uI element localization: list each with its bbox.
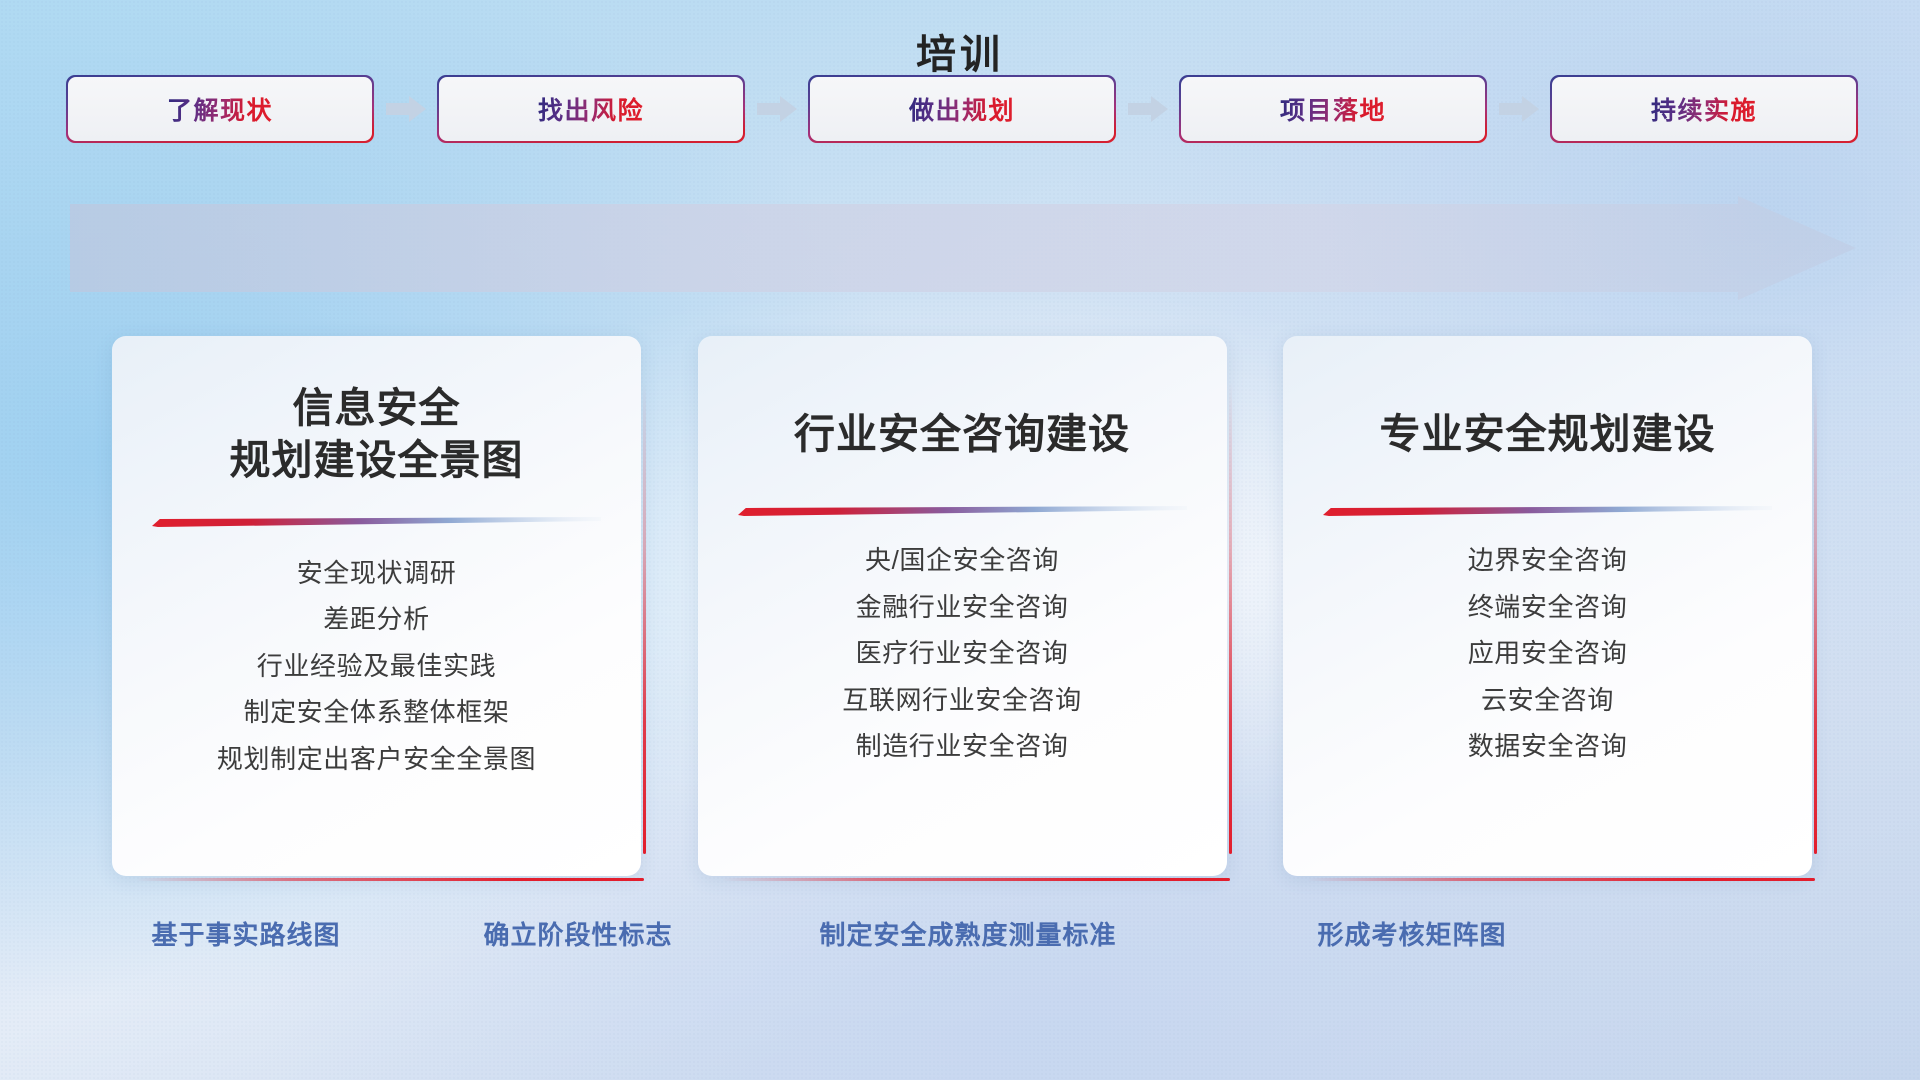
- list-item: 差距分析: [323, 603, 429, 636]
- card-accent-bottom-edge: [722, 878, 1230, 881]
- card-accent-bottom-edge: [1307, 878, 1815, 881]
- card-1-list: 安全现状调研 差距分析 行业经验及最佳实践 制定安全体系整体框架 规划制定出客户…: [146, 557, 607, 776]
- bottom-label-2: 确立阶段性标志: [483, 915, 672, 952]
- process-step-2-label: 找出风险: [538, 91, 644, 127]
- list-item: 医疗行业安全咨询: [856, 637, 1069, 670]
- process-step-3[interactable]: 做出规划: [810, 77, 1114, 141]
- training-banner-label: 培训: [0, 22, 1920, 80]
- process-step-1[interactable]: 了解现状: [68, 77, 372, 141]
- right-arrow-icon: [1126, 94, 1170, 124]
- card-information-security-blueprint[interactable]: 信息安全 规划建设全景图: [112, 336, 641, 876]
- list-item: 云安全咨询: [1481, 684, 1614, 717]
- process-step-5-label: 持续实施: [1651, 91, 1757, 127]
- list-item: 制定安全体系整体框架: [243, 696, 509, 729]
- list-item: 安全现状调研: [297, 557, 457, 590]
- process-step-2[interactable]: 找出风险: [439, 77, 743, 141]
- card-accent-bottom-edge: [136, 878, 644, 881]
- bottom-outcome-labels: 基于事实路线图 确立阶段性标志 制定安全成熟度测量标准 形成考核矩阵图: [0, 915, 1920, 963]
- card-professional-security-planning[interactable]: 专业安全规划建设: [1283, 336, 1812, 876]
- process-step-1-label: 了解现状: [167, 91, 273, 127]
- bottom-label-1: 基于事实路线图: [151, 915, 340, 952]
- list-item: 边界安全咨询: [1468, 544, 1628, 577]
- process-step-4[interactable]: 项目落地: [1181, 77, 1485, 141]
- slide-canvas: 了解现状 找出风险 做出规划 项目落地: [0, 0, 1920, 1080]
- list-item: 金融行业安全咨询: [856, 591, 1069, 624]
- card-2-title: 行业安全咨询建设: [732, 408, 1193, 460]
- card-2-list: 央/国企安全咨询 金融行业安全咨询 医疗行业安全咨询 互联网行业安全咨询 制造行…: [732, 544, 1193, 763]
- card-accent-right-edge: [1814, 382, 1817, 854]
- card-industry-security-consulting[interactable]: 行业安全咨询建设: [698, 336, 1227, 876]
- card-3-title: 专业安全规划建设: [1317, 408, 1778, 460]
- card-accent-right-edge: [643, 382, 646, 854]
- list-item: 央/国企安全咨询: [865, 544, 1059, 577]
- card-accent-right-edge: [1229, 382, 1232, 854]
- right-arrow-icon: [1497, 94, 1541, 124]
- right-arrow-icon: [384, 94, 428, 124]
- card-1-title: 信息安全 规划建设全景图: [146, 382, 607, 487]
- process-step-3-label: 做出规划: [909, 91, 1015, 127]
- list-item: 数据安全咨询: [1468, 730, 1628, 763]
- training-banner-arrow: [70, 196, 1856, 300]
- list-item: 行业经验及最佳实践: [257, 650, 496, 683]
- bottom-label-3: 制定安全成熟度测量标准: [819, 915, 1116, 952]
- process-step-4-label: 项目落地: [1280, 91, 1386, 127]
- card-3-divider: [1323, 506, 1772, 516]
- cards-row: 信息安全 规划建设全景图: [112, 336, 1812, 876]
- process-flow-strip: 了解现状 找出风险 做出规划 项目落地: [68, 76, 1856, 142]
- card-1-divider: [152, 517, 601, 527]
- card-3-list: 边界安全咨询 终端安全咨询 应用安全咨询 云安全咨询 数据安全咨询: [1317, 544, 1778, 763]
- card-2-divider: [738, 506, 1187, 516]
- list-item: 规划制定出客户安全全景图: [217, 743, 536, 776]
- list-item: 互联网行业安全咨询: [842, 684, 1081, 717]
- bottom-label-4: 形成考核矩阵图: [1317, 915, 1506, 952]
- list-item: 终端安全咨询: [1468, 591, 1628, 624]
- list-item: 制造行业安全咨询: [856, 730, 1069, 763]
- process-step-5[interactable]: 持续实施: [1552, 77, 1856, 141]
- list-item: 应用安全咨询: [1468, 637, 1628, 670]
- right-arrow-icon: [755, 94, 799, 124]
